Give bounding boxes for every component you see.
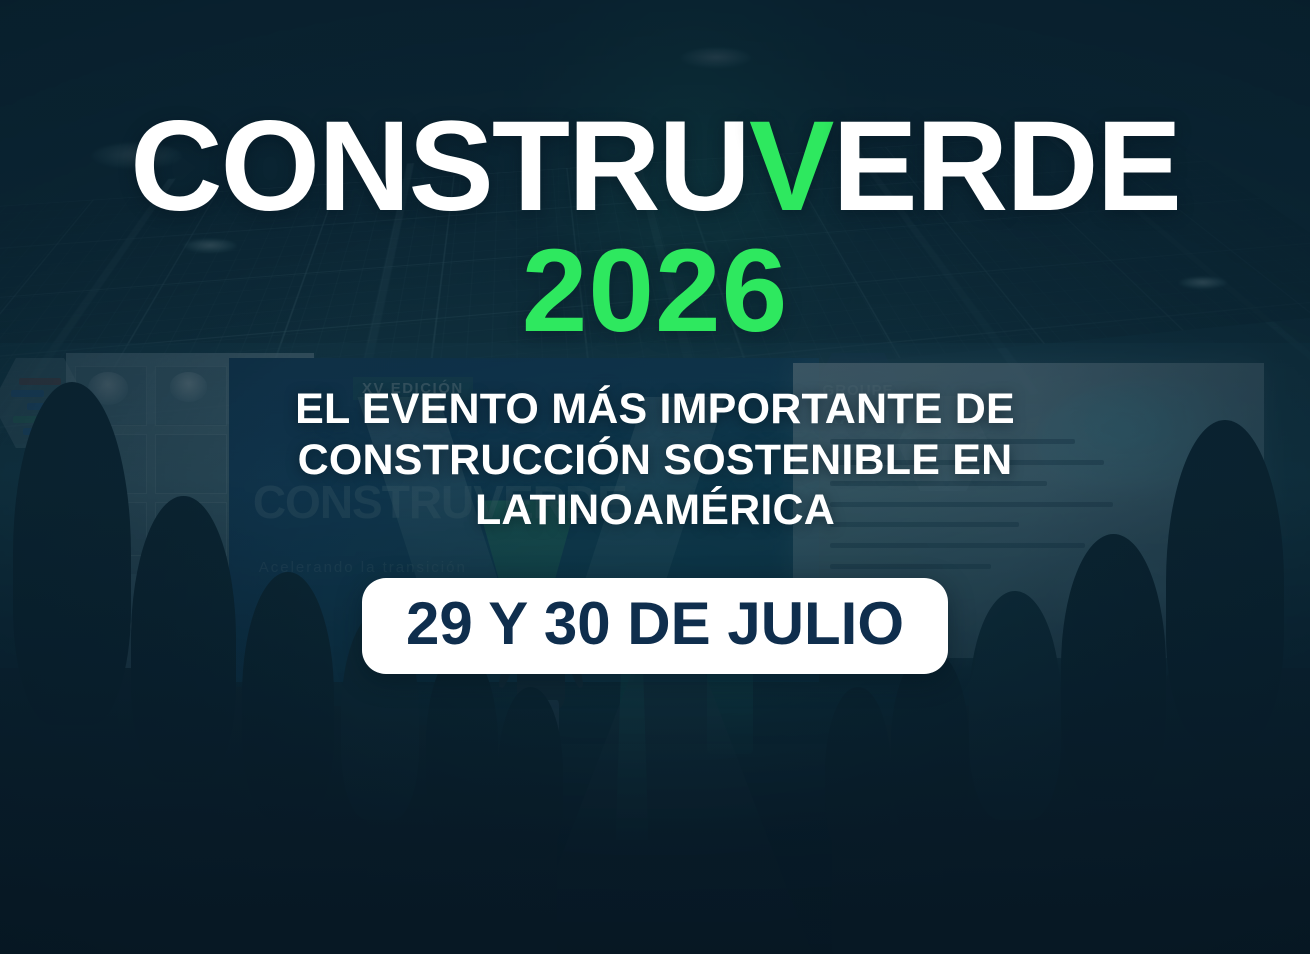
event-date-label: 29 Y 30 DE JULIO: [406, 594, 904, 654]
tagline-line-3: LATINOAMÉRICA: [190, 485, 1120, 536]
event-tagline: EL EVENTO MÁS IMPORTANTE DE CONSTRUCCIÓN…: [190, 384, 1120, 536]
wordmark-accent-letter: V: [749, 95, 832, 238]
wordmark-part-one: CONSTRU: [130, 95, 749, 238]
tagline-line-2: CONSTRUCCIÓN SOSTENIBLE EN: [190, 435, 1120, 486]
event-wordmark: CONSTRUVERDE: [130, 108, 1180, 226]
poster-content: CONSTRUVERDE 2026 EL EVENTO MÁS IMPORTAN…: [0, 0, 1310, 954]
tagline-line-1: EL EVENTO MÁS IMPORTANTE DE: [190, 384, 1120, 435]
event-poster: CCCS SFORMAN XV EDICIÓN CONSTRUVERDE Ace…: [0, 0, 1310, 954]
event-year: 2026: [522, 238, 789, 344]
wordmark-part-two: ERDE: [832, 95, 1180, 238]
event-date-badge: 29 Y 30 DE JULIO: [362, 578, 948, 674]
